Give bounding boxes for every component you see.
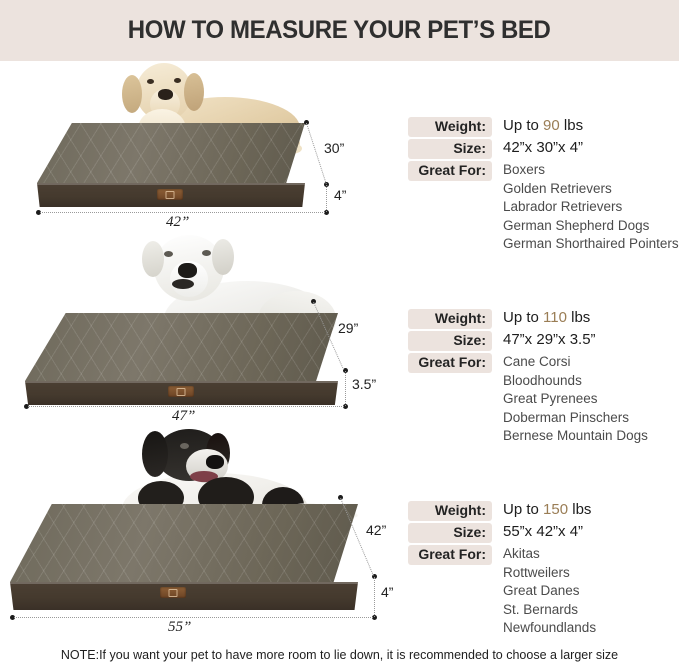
- dim-label-height: 4”: [334, 187, 346, 203]
- dim-line-length: [40, 212, 325, 213]
- dim-line-height: [374, 577, 375, 617]
- spec-label-great-for: Great For:: [408, 353, 492, 373]
- dim-line-length: [14, 617, 373, 618]
- weight-prefix: Up to: [503, 309, 539, 326]
- spec-row-size: Size: 55”x 42”x 4”: [408, 523, 679, 543]
- weight-number: 150: [543, 501, 568, 518]
- spec-row-size: Size: 47”x 29”x 3.5”: [408, 331, 679, 351]
- spec-label-weight: Weight:: [408, 501, 492, 521]
- spec-value-weight: Up to 150 lbs: [492, 501, 591, 519]
- spec-value-weight: Up to 90 lbs: [492, 117, 583, 135]
- spec-label-size: Size:: [408, 331, 492, 351]
- list-item: Doberman Pinschers: [503, 409, 648, 428]
- list-item: Labrador Retrievers: [503, 198, 679, 217]
- bed-xlarge: [25, 313, 338, 381]
- dim-label-length: 47”: [172, 408, 195, 425]
- list-item: Golden Retrievers: [503, 180, 679, 199]
- weight-unit: lbs: [572, 501, 591, 518]
- dim-label-height: 4”: [381, 584, 393, 600]
- dim-label-length: 55”: [168, 619, 191, 636]
- spec-label-weight: Weight:: [408, 117, 492, 137]
- spec-row-weight: Weight: Up to 110 lbs: [408, 309, 679, 329]
- dim-line-height: [345, 371, 346, 406]
- spec-block-jumbo: Weight: Up to 150 lbs Size: 55”x 42”x 4”…: [408, 501, 679, 640]
- weight-prefix: Up to: [503, 117, 539, 134]
- list-item: Rottweilers: [503, 564, 596, 583]
- infographic-page: HOW TO MEASURE YOUR PET’S BED: [0, 0, 679, 668]
- spec-row-size: Size: 42”x 30”x 4”: [408, 139, 679, 159]
- weight-number: 110: [543, 309, 567, 326]
- spec-label-great-for: Great For:: [408, 545, 492, 565]
- spec-row-weight: Weight: Up to 90 lbs: [408, 117, 679, 137]
- bed-illustration-jumbo: 42” 4” 55”: [0, 429, 405, 640]
- bed-jumbo: [10, 504, 358, 582]
- spec-value-size: 55”x 42”x 4”: [492, 523, 583, 541]
- weight-unit: lbs: [564, 117, 583, 134]
- spec-value-size: 47”x 29”x 3.5”: [492, 331, 596, 349]
- list-item: Great Pyrenees: [503, 390, 648, 409]
- spec-label-weight: Weight:: [408, 309, 492, 329]
- list-item: St. Bernards: [503, 601, 596, 620]
- list-item: Akitas: [503, 545, 596, 564]
- weight-number: 90: [543, 117, 560, 134]
- list-item: Bloodhounds: [503, 372, 648, 391]
- spec-label-size: Size:: [408, 523, 492, 543]
- page-header: HOW TO MEASURE YOUR PET’S BED: [0, 0, 679, 61]
- spec-label-size: Size:: [408, 139, 492, 159]
- brand-logo-patch: [168, 386, 194, 397]
- spec-value-size: 42”x 30”x 4”: [492, 139, 583, 157]
- dim-line-length: [28, 406, 344, 407]
- spec-row-weight: Weight: Up to 150 lbs: [408, 501, 679, 521]
- dim-label-width: 29”: [338, 320, 358, 336]
- page-title: HOW TO MEASURE YOUR PET’S BED: [128, 16, 551, 45]
- list-item: Cane Corsi: [503, 353, 648, 372]
- weight-prefix: Up to: [503, 501, 539, 518]
- footer-note: NOTE:If you want your pet to have more r…: [0, 648, 679, 662]
- spec-row-great-for: Great For: Akitas Rottweilers Great Dane…: [408, 545, 679, 638]
- weight-unit: lbs: [571, 309, 590, 326]
- bed-large: [37, 123, 305, 183]
- bed-top-surface: [25, 313, 338, 381]
- list-item: Boxers: [503, 161, 679, 180]
- bed-top-surface: [37, 123, 305, 183]
- spec-label-great-for: Great For:: [408, 161, 492, 181]
- size-section-large: 30” 4” 42” Weight: Up to 90 lbs Size: 42…: [0, 61, 679, 233]
- size-section-jumbo: 42” 4” 55” Weight: Up to 150 lbs Size: 5…: [0, 429, 679, 640]
- list-item: Newfoundlands: [503, 619, 596, 638]
- dim-label-width: 42”: [366, 522, 386, 538]
- dim-label-length: 42”: [166, 214, 189, 231]
- brand-logo-patch: [157, 189, 183, 200]
- breed-list-jumbo: Akitas Rottweilers Great Danes St. Berna…: [492, 545, 596, 638]
- spec-value-weight: Up to 110 lbs: [492, 309, 590, 327]
- dim-line-height: [326, 185, 327, 212]
- spec-block-xlarge: Weight: Up to 110 lbs Size: 47”x 29”x 3.…: [408, 309, 679, 448]
- brand-logo-patch: [160, 587, 186, 598]
- size-section-xlarge: 29” 3.5” 47” Weight: Up to 110 lbs Size:…: [0, 233, 679, 429]
- dim-label-width: 30”: [324, 140, 344, 156]
- bed-illustration-large: 30” 4” 42”: [0, 61, 405, 233]
- list-item: Great Danes: [503, 582, 596, 601]
- bed-top-surface: [10, 504, 358, 582]
- bed-illustration-xlarge: 29” 3.5” 47”: [0, 233, 405, 429]
- dim-label-height: 3.5”: [352, 376, 376, 392]
